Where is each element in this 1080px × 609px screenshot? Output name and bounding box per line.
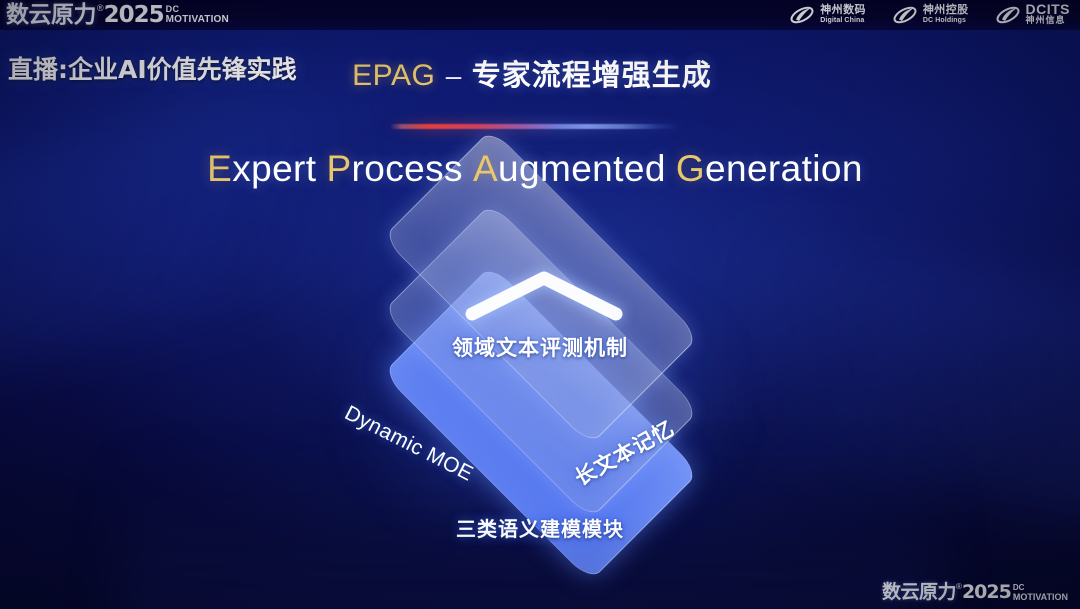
corporate-logo-text: 神州数码 Digital China <box>820 4 866 25</box>
footer-watermark-logo: 数云原力 ® 2025 DC MOTIVATION <box>882 582 1068 603</box>
event-logo-year: 2025 <box>104 2 164 28</box>
subtitle-word-initial: E <box>207 148 232 189</box>
corporate-logo-en: 神州信息 <box>1026 16 1071 27</box>
corporate-logo-cn: 神州数码 <box>820 4 866 16</box>
gradient-rule <box>390 124 680 129</box>
event-logo-motivation: MOTIVATION <box>166 14 229 25</box>
corporate-logo-dc-holdings: 神州控股 DC Holdings <box>892 4 969 26</box>
swoosh-logo-icon <box>995 4 1021 26</box>
event-logo-dc: DC <box>166 5 229 14</box>
event-logo: 数云原力 ® 2025 DC MOTIVATION <box>6 2 229 28</box>
corporate-logo-dcits: DCITS 神州信息 <box>995 2 1071 27</box>
swoosh-logo-icon <box>789 4 815 26</box>
heading-acronym: EPAG <box>352 59 435 92</box>
watermark-dc: DC <box>1013 584 1068 592</box>
watermark-year: 2025 <box>962 582 1011 603</box>
corporate-logo-text: 神州控股 DC Holdings <box>923 4 969 25</box>
slide-canvas: 数云原力 ® 2025 DC MOTIVATION 神州数码 Digital C… <box>0 0 1080 609</box>
heading-dash: – <box>440 60 468 91</box>
main-heading-inner: EPAG – 专家流程增强生成 <box>352 52 712 94</box>
subtitle-word-rest: xpert <box>232 148 316 189</box>
corporate-logo-en: DC Holdings <box>923 16 969 25</box>
corporate-logo-group: 神州数码 Digital China 神州控股 DC Holdings DCIT… <box>789 2 1070 27</box>
subtitle-word-initial: G <box>676 148 705 189</box>
watermark-motivation: MOTIVATION <box>1013 592 1068 602</box>
subtitle-word: Process <box>326 148 462 189</box>
corporate-logo-cn: DCITS <box>1026 2 1071 16</box>
registered-mark-icon: ® <box>97 2 104 14</box>
subtitle-word-rest: eneration <box>705 148 863 189</box>
watermark-dc-block: DC MOTIVATION <box>1013 582 1068 602</box>
heading-title-cn: 专家流程增强生成 <box>472 58 712 92</box>
corporate-logo-cn: 神州控股 <box>923 4 969 16</box>
layered-stack-diagram: 领域文本评测机制 Dynamic MOE 长文本记忆 三类语义建模模块 <box>288 228 792 558</box>
subtitle-word: Generation <box>676 148 863 189</box>
subtitle-word-initial: A <box>473 148 498 189</box>
subtitle-word-initial: P <box>326 148 351 189</box>
subtitle: ExpertProcessAugmentedGeneration <box>0 148 1080 190</box>
subtitle-word: Expert <box>207 148 316 189</box>
event-logo-name: 数云原力 <box>6 2 96 28</box>
subtitle-word-rest: ugmented <box>498 148 666 189</box>
subtitle-word-rest: rocess <box>352 148 463 189</box>
corporate-logo-text: DCITS 神州信息 <box>1026 2 1071 27</box>
corporate-logo-digital-china: 神州数码 Digital China <box>789 4 866 26</box>
watermark-name: 数云原力 <box>882 582 956 603</box>
swoosh-logo-icon <box>892 4 918 26</box>
corporate-logo-en: Digital China <box>820 16 866 25</box>
main-heading: EPAG – 专家流程增强生成 <box>0 52 1080 94</box>
event-logo-dc-block: DC MOTIVATION <box>166 2 229 25</box>
subtitle-word: Augmented <box>473 148 666 189</box>
